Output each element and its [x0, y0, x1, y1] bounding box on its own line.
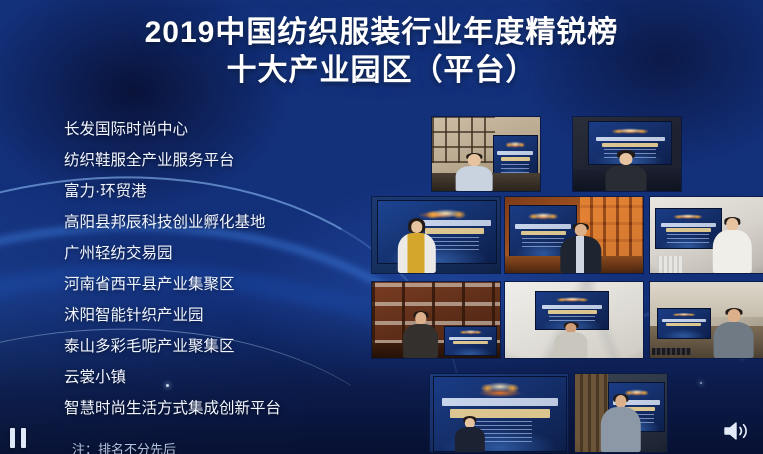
list-item: 高阳县邦辰科技创业孵化基地 [64, 207, 364, 238]
volume-button[interactable] [721, 418, 751, 444]
video-tile[interactable] [430, 374, 568, 452]
video-tile[interactable] [432, 117, 540, 191]
pause-button[interactable] [8, 428, 30, 448]
video-tile[interactable] [372, 197, 500, 273]
video-tile[interactable] [573, 117, 681, 191]
video-tile[interactable] [505, 197, 643, 273]
list-item: 富力·环贸港 [64, 176, 364, 207]
video-tile[interactable] [650, 282, 763, 358]
list-item: 广州轻纺交易园 [64, 238, 364, 269]
bottom-caption: 注：排名不分先后 [72, 439, 176, 454]
list-item: 纺织鞋服全产业服务平台 [64, 145, 364, 176]
title-line-2: 十大产业园区（平台） [0, 52, 763, 90]
list-item: 长发国际时尚中心 [64, 114, 364, 145]
list-item: 智慧时尚生活方式集成创新平台 [64, 393, 364, 424]
page-title: 2019中国纺织服装行业年度精锐榜 十大产业园区（平台） [0, 14, 763, 90]
video-tile[interactable] [505, 282, 643, 358]
list-item: 沭阳智能针织产业园 [64, 300, 364, 331]
title-line-1: 2019中国纺织服装行业年度精锐榜 [0, 14, 763, 52]
list-item: 泰山多彩毛呢产业聚集区 [64, 331, 364, 362]
list-item: 河南省西平县产业集聚区 [64, 269, 364, 300]
background-spark [700, 382, 702, 384]
pause-bar-left [10, 428, 15, 448]
award-list: 长发国际时尚中心 纺织鞋服全产业服务平台 富力·环贸港 高阳县邦辰科技创业孵化基… [64, 114, 364, 424]
video-player-stage: 2019中国纺织服装行业年度精锐榜 十大产业园区（平台） 长发国际时尚中心 纺织… [0, 0, 763, 454]
video-tile[interactable] [650, 197, 763, 273]
pause-bar-right [21, 428, 26, 448]
video-tile[interactable] [575, 374, 667, 452]
speaker-icon [721, 418, 751, 444]
video-tile[interactable] [372, 282, 500, 358]
list-item: 云裳小镇 [64, 362, 364, 393]
